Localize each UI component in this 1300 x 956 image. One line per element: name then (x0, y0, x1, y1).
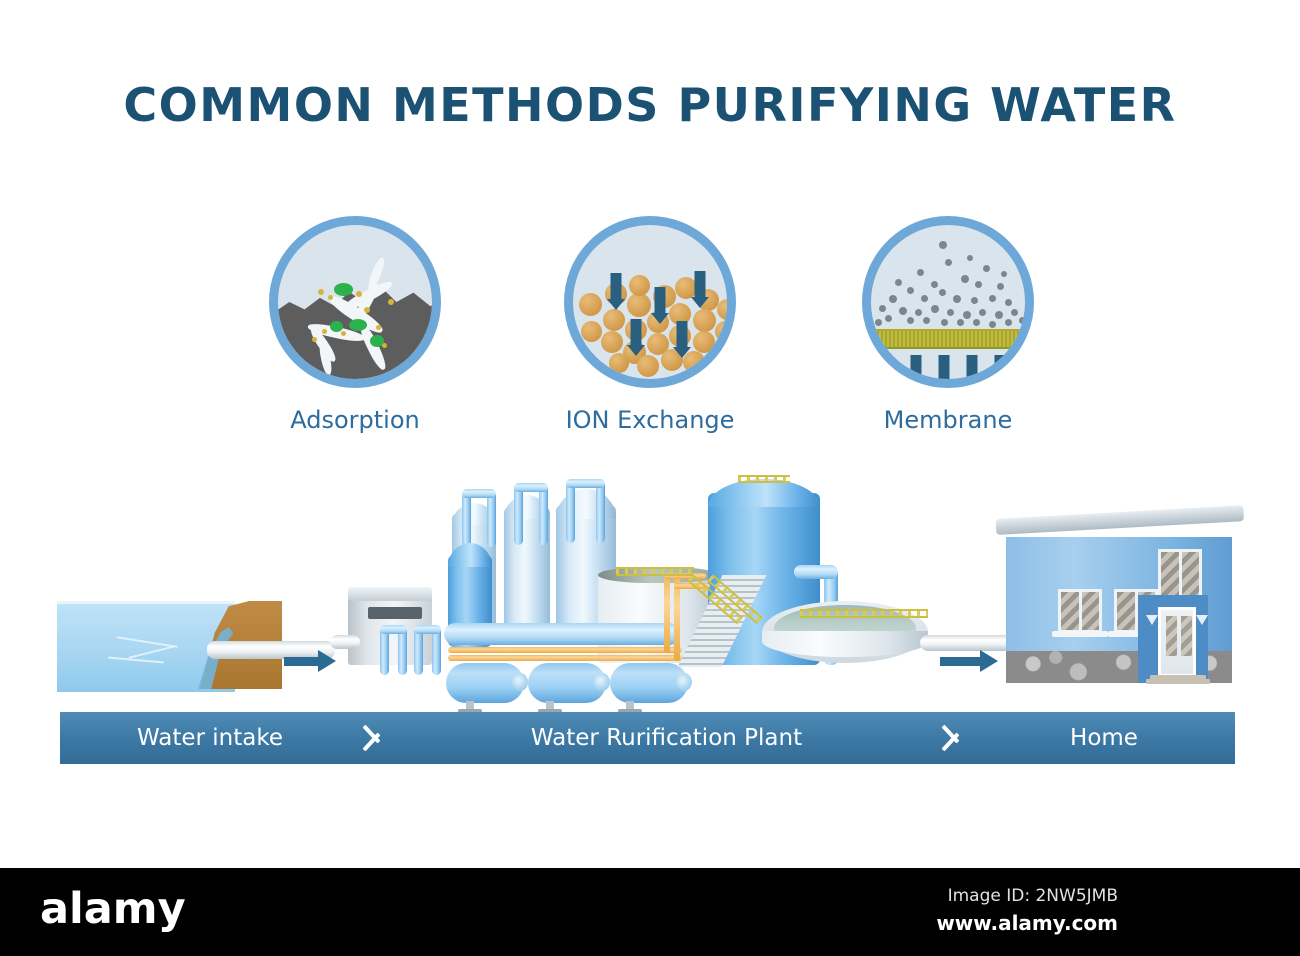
particle (907, 317, 914, 324)
contaminant-particle (356, 291, 362, 297)
membrane-icon (862, 216, 1034, 388)
particle (1005, 319, 1012, 326)
chemical-dosing-pipe (448, 647, 682, 653)
particle (923, 317, 930, 324)
particle (895, 279, 902, 286)
particle (979, 309, 986, 316)
method-label-ion-exchange: ION Exchange (540, 406, 760, 434)
manifold-pipe (414, 625, 441, 634)
flow-arrow-down (691, 271, 709, 309)
permeate-arrow-down (963, 355, 981, 388)
membrane-filter-layer (871, 329, 1025, 349)
particle (989, 321, 996, 328)
particle (931, 305, 939, 313)
particle (953, 295, 961, 303)
flow-arrow-down (673, 321, 691, 359)
plant-inlet-pipe (330, 635, 360, 649)
ion-exchange-circle (564, 216, 736, 388)
window-sill (1052, 631, 1108, 637)
door-step (1146, 679, 1210, 684)
contaminant-particle (376, 325, 381, 330)
method-label-adsorption: Adsorption (245, 406, 465, 434)
resin-bead (627, 293, 651, 317)
clarifier-bridge (800, 609, 928, 618)
vessel-loop-pipe (566, 481, 575, 543)
banner-stage-water-intake[interactable]: Water intake (60, 712, 360, 764)
walkway-railing (616, 567, 694, 576)
door-glass (1181, 616, 1192, 656)
contaminant-particle (322, 329, 327, 334)
contaminant-particle (330, 321, 343, 332)
particle (1019, 317, 1026, 324)
permeate-arrow-down (991, 355, 1009, 388)
vessel-loop-pipe (539, 485, 548, 545)
flow-arrow-intake-to-plant (284, 653, 336, 669)
page-title: COMMON METHODS PURIFYING WATER (0, 78, 1300, 132)
particle (879, 305, 886, 312)
particle (971, 297, 978, 304)
banner-label-water-intake: Water intake (137, 725, 283, 751)
permeate-arrow-down (907, 355, 925, 388)
particle (983, 265, 990, 272)
membrane-circle (862, 216, 1034, 388)
particle (921, 295, 928, 302)
tank-roof-railing (738, 475, 790, 483)
resin-bead (603, 309, 625, 331)
method-adsorption: Adsorption (245, 216, 465, 434)
pump-house-vent (368, 607, 422, 619)
flow-arrow-plant-to-home (940, 653, 998, 669)
particle (989, 295, 996, 302)
particle (975, 281, 982, 288)
contaminant-particle (388, 299, 394, 305)
vessel-loop-pipe (487, 491, 496, 547)
particle (945, 259, 952, 266)
contaminant-particle (328, 295, 333, 300)
alamy-logo: alamy (40, 884, 186, 934)
banner-label-purification-plant: Water Rurification Plant (531, 725, 802, 751)
chevron-right-icon (360, 712, 394, 764)
contaminant-particle (334, 283, 353, 296)
house-window-upper (1158, 549, 1202, 601)
flow-arrow-down (627, 319, 645, 357)
particle (875, 319, 882, 326)
particle (963, 311, 971, 319)
adsorption-icon (269, 216, 441, 388)
vessel-loop-pipe (462, 489, 496, 498)
house-roof (996, 505, 1245, 535)
particle (1001, 271, 1007, 277)
chevron-right-icon (939, 712, 973, 764)
cylinder-cap (676, 673, 692, 691)
door-glass (1166, 616, 1177, 656)
method-ion-exchange: ION Exchange (540, 216, 760, 434)
banner-stage-purification-plant[interactable]: Water Rurification Plant (394, 712, 939, 764)
particle (889, 295, 897, 303)
particle (939, 241, 947, 249)
process-stage-banner: Water intake Water Rurification Plant Ho… (60, 712, 1235, 764)
resin-bead (581, 321, 602, 342)
house-door[interactable] (1158, 607, 1196, 677)
permeate-arrow-down (935, 355, 953, 388)
vessel-loop-pipe (514, 483, 548, 492)
resin-bead (609, 353, 629, 373)
particle (885, 315, 892, 322)
manifold-pipe (380, 625, 407, 634)
chemical-dosing-pipe (448, 655, 682, 661)
particle (961, 275, 969, 283)
particle (997, 283, 1004, 290)
particle (957, 319, 964, 326)
method-membrane: Membrane (838, 216, 1058, 434)
adsorption-circle (269, 216, 441, 388)
chemical-dosing-pipe (664, 575, 670, 653)
manifold-pipe (432, 627, 441, 675)
flow-arrow-down (651, 287, 669, 325)
resin-bead (717, 299, 736, 320)
vessel-loop-pipe (462, 491, 471, 547)
particle (915, 309, 922, 316)
manifold-pipe (380, 627, 389, 675)
method-label-membrane: Membrane (838, 406, 1058, 434)
particle (1011, 309, 1018, 316)
contaminant-particle (382, 343, 387, 348)
ion-exchange-icon (564, 216, 736, 388)
contaminant-particle (341, 331, 346, 336)
process-scene (0, 455, 1300, 710)
window-mullion (1079, 592, 1082, 630)
tank-outlet-pipe (794, 565, 838, 579)
resin-bead (693, 331, 715, 353)
watermark-bar: alamy Image ID: 2NW5JMB www.alamy.com (0, 868, 1300, 956)
pump-house-roof (348, 587, 432, 601)
particle (907, 287, 914, 294)
cylinder-cap (594, 673, 610, 691)
manifold-pipe (414, 627, 423, 675)
particle (947, 309, 954, 316)
manifold-pipe (398, 627, 407, 675)
banner-stage-home[interactable]: Home (973, 712, 1235, 764)
particle (899, 307, 907, 315)
banner-label-home: Home (1070, 725, 1138, 751)
resin-bead (637, 355, 659, 377)
contaminant-particle (349, 319, 367, 331)
cylinder-cap (512, 673, 528, 691)
alamy-url: www.alamy.com (936, 911, 1118, 935)
porch-lamp-right (1196, 615, 1208, 625)
contaminant-particle (364, 307, 370, 313)
particle (1005, 299, 1012, 306)
image-id-label: Image ID: 2NW5JMB (948, 886, 1118, 906)
resin-bead (579, 293, 602, 316)
particle (941, 319, 948, 326)
window-mullion (1179, 552, 1182, 598)
contaminant-particle (312, 337, 317, 342)
particle (931, 281, 938, 288)
house-window-left (1058, 589, 1102, 633)
particle (973, 319, 980, 326)
particle (967, 255, 973, 261)
resin-bead (693, 309, 716, 332)
vessel-loop-pipe (566, 479, 605, 488)
resin-bead (629, 275, 650, 296)
porch-lamp-left (1146, 615, 1158, 625)
vessel-loop-pipe (514, 485, 523, 545)
contaminant-particle (318, 289, 324, 295)
filter-vessel-cap (556, 489, 616, 519)
particle (917, 269, 924, 276)
main-header-pipe (444, 623, 680, 645)
particle (995, 311, 1003, 319)
vessel-loop-pipe (596, 481, 605, 543)
storage-tank-roof (708, 479, 820, 507)
flow-arrow-down (607, 273, 625, 311)
resin-bead (715, 321, 736, 342)
resin-bead (601, 331, 623, 353)
particle (939, 289, 946, 296)
